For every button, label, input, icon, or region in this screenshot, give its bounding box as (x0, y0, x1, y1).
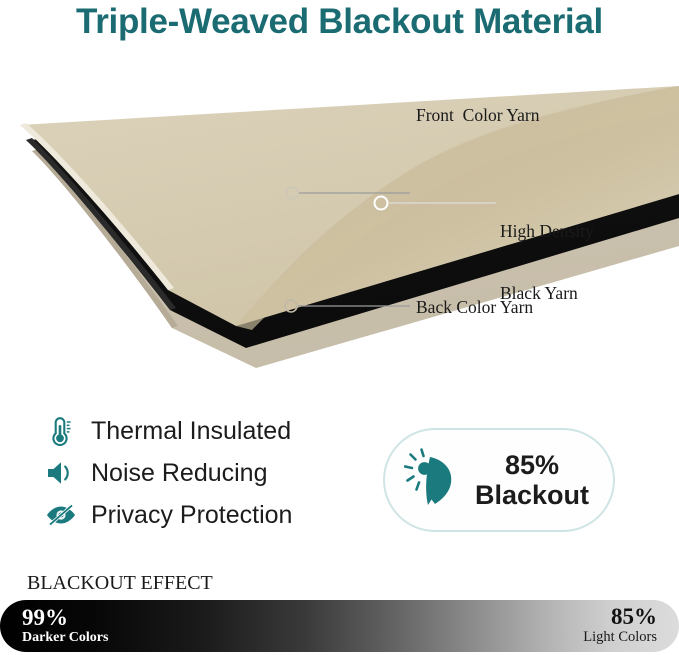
callout-label-high-density-black-yarn: High Density Black Yarn (500, 180, 594, 345)
feature-privacy-protection: Privacy Protection (44, 494, 354, 536)
bar-left-caption: Darker Colors (22, 630, 108, 647)
feature-thermal-insulated: Thermal Insulated (44, 410, 354, 452)
product-infographic: Triple-Weaved Blackout Material (0, 0, 679, 655)
feature-label: Noise Reducing (91, 459, 268, 488)
feature-list: Thermal Insulated Noise Reducing (44, 410, 354, 536)
thermometer-icon (44, 414, 78, 448)
bar-right-caption: Light Colors (583, 629, 657, 646)
badge-percent: 85% (475, 450, 589, 480)
eye-off-icon (44, 498, 78, 532)
feature-noise-reducing: Noise Reducing (44, 452, 354, 494)
sun-behind-curtain-icon (401, 447, 465, 513)
feature-label: Thermal Insulated (91, 417, 291, 446)
callout-label-line-1: High Density (500, 221, 594, 242)
badge-text: 85% Blackout (475, 450, 589, 510)
page-title: Triple-Weaved Blackout Material (0, 2, 679, 42)
speaker-sound-icon (44, 456, 78, 490)
blackout-effect-gradient-bar: 99% Darker Colors 85% Light Colors (0, 600, 679, 652)
blackout-effect-heading: BLACKOUT EFFECT (27, 572, 213, 595)
badge-caption: Blackout (475, 480, 589, 510)
feature-label: Privacy Protection (91, 501, 292, 530)
bar-left-percent: 99% (22, 606, 68, 630)
blackout-badge: 85% Blackout (383, 428, 615, 532)
bar-right-stat: 85% Light Colors (583, 600, 657, 652)
callout-label-back-color-yarn: Back Color Yarn (416, 297, 533, 318)
bar-right-percent: 85% (611, 605, 657, 629)
bar-left-stat: 99% Darker Colors (22, 600, 108, 652)
callout-label-front-color-yarn: Front Color Yarn (416, 105, 540, 126)
